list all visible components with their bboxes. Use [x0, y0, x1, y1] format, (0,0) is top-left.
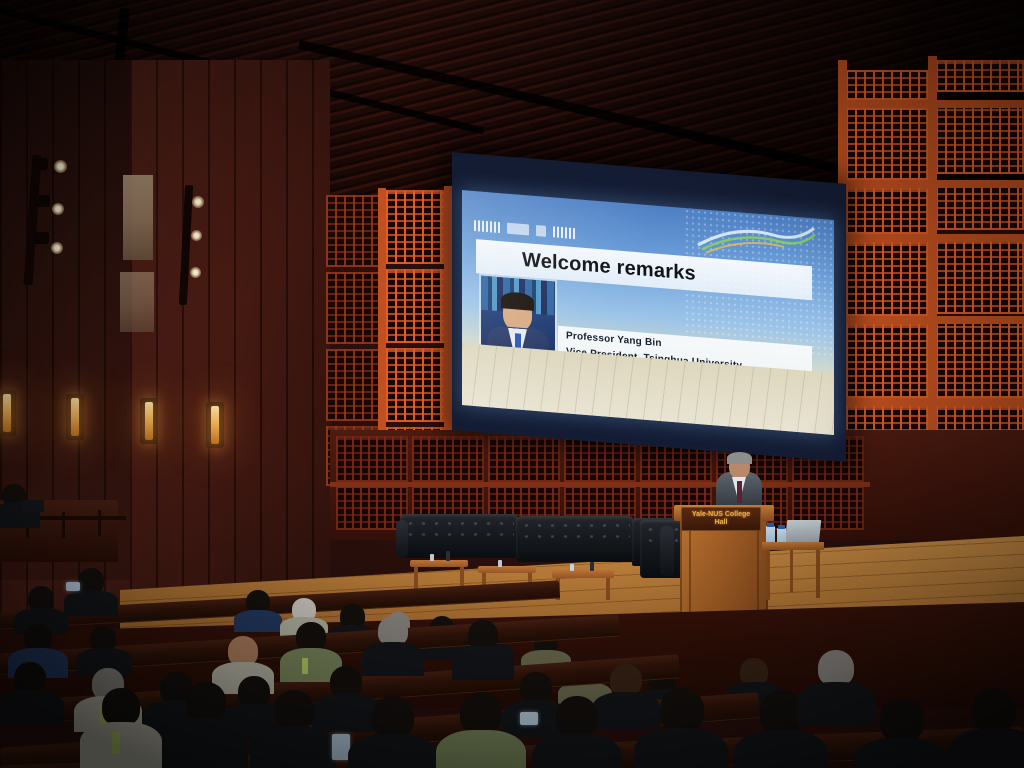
- phone-screen: [520, 712, 538, 725]
- lanyard: [302, 658, 308, 674]
- projection-screen[interactable]: Welcome remarks Professor Yang Bin Vice …: [462, 190, 834, 435]
- audience-head: [274, 690, 314, 730]
- lattice-panel: [846, 70, 928, 100]
- panel-rail: [330, 482, 870, 487]
- plaque-line-2: Hall: [715, 519, 728, 527]
- lattice-panel: [326, 349, 382, 421]
- lattice-panel: [846, 324, 928, 398]
- bottle-cap: [778, 525, 785, 529]
- lattice-panel: [488, 436, 560, 482]
- audience-shoulders: [250, 726, 336, 768]
- audience-head: [880, 698, 924, 742]
- spotlight-icon: [190, 267, 201, 278]
- lattice-panel: [412, 436, 484, 482]
- spotlight-icon: [192, 196, 204, 208]
- lattice-panel: [936, 60, 1024, 92]
- audience-shoulders: [362, 642, 424, 676]
- audience-shoulders: [592, 692, 660, 730]
- lattice-panel: [386, 190, 444, 264]
- lattice-panel: [846, 108, 928, 180]
- audience-shoulders: [854, 738, 948, 768]
- speaker-hair: [727, 452, 752, 464]
- lattice-panel: [936, 322, 1024, 398]
- stage-sofa: [516, 516, 634, 562]
- audience-shoulders: [734, 730, 828, 768]
- audience-head: [818, 650, 854, 686]
- wall-sconce: [211, 406, 219, 444]
- audience-shoulders: [452, 646, 514, 680]
- audience-shoulders: [348, 734, 438, 768]
- nus-logo-icon: [507, 222, 529, 235]
- speaker-tie: [737, 481, 742, 503]
- lattice-panel: [326, 272, 382, 344]
- lattice-panel: [936, 238, 1024, 314]
- spotlight-icon: [54, 160, 67, 173]
- lattice-panel: [336, 436, 408, 482]
- audience-head: [186, 682, 226, 722]
- bottle-cap: [767, 523, 774, 527]
- audience-head: [972, 688, 1016, 732]
- spotlight-icon: [51, 242, 63, 254]
- spotlight-housing: [33, 232, 49, 244]
- audience-seating: [0, 560, 1024, 768]
- audience-shoulders: [634, 728, 728, 768]
- video-camera-icon: [22, 500, 44, 512]
- wall-sconce: [145, 402, 153, 440]
- rail-post: [62, 512, 65, 538]
- audience-shoulders: [64, 590, 118, 616]
- panel-rail: [838, 180, 1024, 188]
- auditorium-scene: Welcome remarks Professor Yang Bin Vice …: [0, 0, 1024, 768]
- audience-shoulders: [80, 722, 162, 768]
- panel-rail: [838, 398, 1024, 406]
- lattice-panel: [326, 195, 382, 267]
- podium-plaque: Yale-NUS College Hall: [681, 507, 761, 531]
- audience-shoulders: [798, 682, 876, 726]
- panel-rail: [838, 316, 1024, 324]
- audience-shoulders: [948, 728, 1024, 768]
- lattice-panel: [846, 242, 928, 316]
- lattice-panel: [386, 348, 444, 422]
- spotlight-housing: [34, 195, 50, 207]
- audience-shoulders: [162, 718, 248, 768]
- audience-head: [102, 688, 140, 726]
- audience-shoulders: [436, 730, 526, 768]
- wall-panel-upper: [123, 175, 153, 260]
- audience-head: [460, 692, 502, 734]
- plaque-line-1: Yale-NUS College: [692, 511, 750, 519]
- lattice-panel: [936, 100, 1024, 174]
- laptop-screen: [785, 520, 822, 544]
- partner-logo-icon: [536, 224, 546, 236]
- lattice-panel: [936, 182, 1024, 230]
- stage-sofa: [400, 514, 518, 558]
- side-table-top: [762, 542, 824, 550]
- audience-head: [556, 696, 598, 738]
- lattice-panel: [846, 188, 928, 234]
- panel-mullion: [928, 56, 937, 470]
- partner-logo-icon: [474, 220, 500, 233]
- panel-rail: [838, 234, 1024, 242]
- sofa-arm: [396, 520, 408, 558]
- rail-post: [98, 510, 101, 536]
- audience-head: [660, 688, 704, 732]
- spotlight-icon: [52, 203, 64, 215]
- lattice-panel: [386, 269, 444, 343]
- partner-logo-icon: [553, 226, 577, 239]
- wall-panel-lower: [120, 272, 154, 332]
- audience-shoulders: [234, 610, 282, 632]
- audience-shoulders: [0, 690, 64, 726]
- wall-sconce: [71, 398, 79, 436]
- spotlight-icon: [191, 230, 202, 241]
- audience-shoulders: [532, 734, 622, 768]
- audience-head: [372, 696, 414, 738]
- spotlight-housing: [32, 158, 48, 170]
- phone-screen: [66, 582, 80, 591]
- audience-shoulders: [312, 694, 380, 732]
- wall-sconce: [3, 394, 11, 432]
- panel-rail: [838, 100, 1024, 108]
- lanyard: [112, 732, 120, 754]
